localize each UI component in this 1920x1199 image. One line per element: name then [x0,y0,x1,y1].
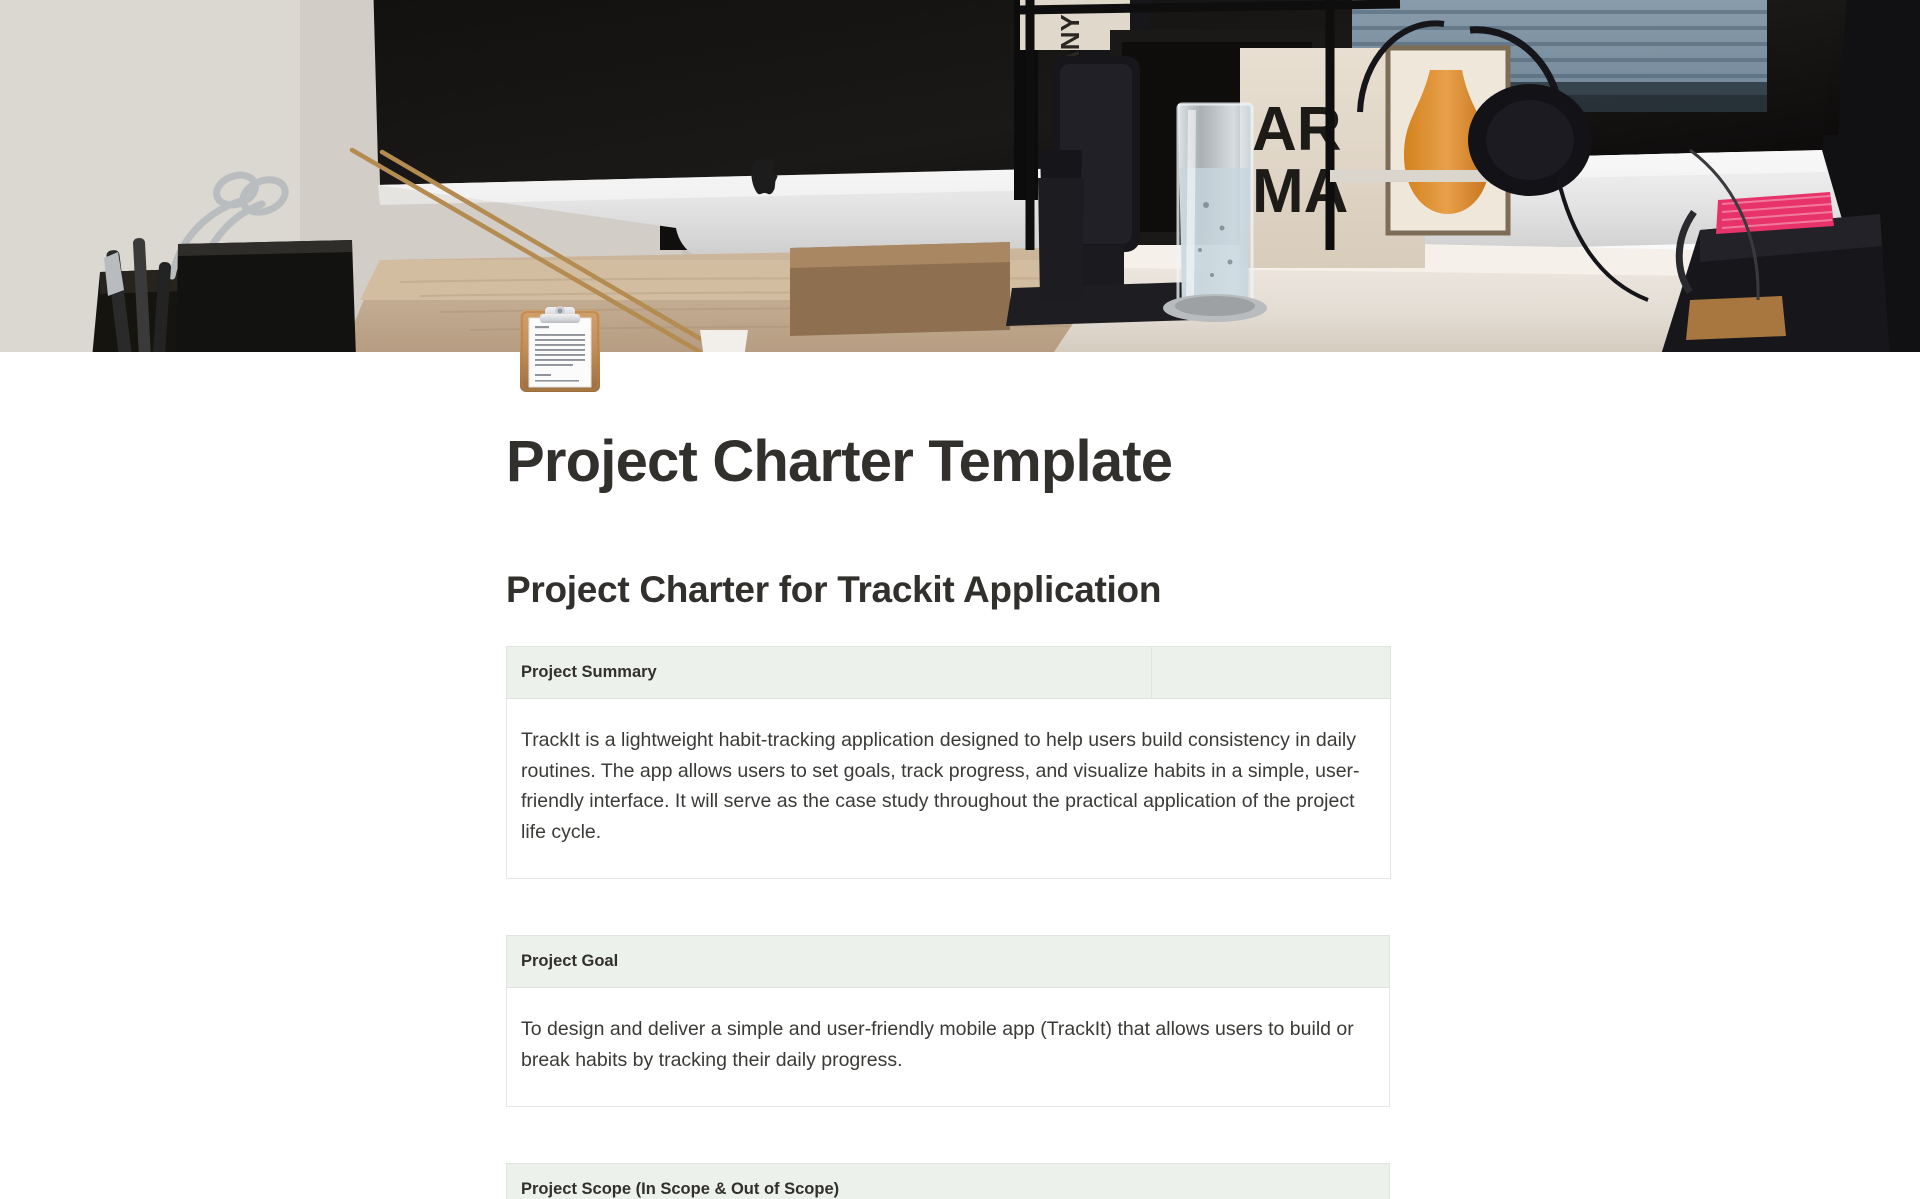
cover-image: ANY AR MA [0,0,1920,358]
table-project-summary: Project Summary TrackIt is a lightweight… [506,646,1390,879]
table-project-goal: Project Goal To design and deliver a sim… [506,935,1390,1107]
table-header-cell[interactable]: Project Scope (In Scope & Out of Scope) [507,1164,1390,1199]
table-header-spacer-cell[interactable] [1152,647,1391,699]
table-row: To design and deliver a simple and user-… [507,988,1390,1107]
table-header-row: Project Summary [507,647,1391,699]
document-page: ANY AR MA [0,0,1920,1199]
table-project-scope: Project Scope (In Scope & Out of Scope) … [506,1163,1390,1199]
table-cell-summary-text[interactable]: TrackIt is a lightweight habit-tracking … [507,699,1391,879]
clipboard-glyph [512,301,608,397]
table-header-cell[interactable]: Project Summary [507,647,1152,699]
table-cell-goal-text[interactable]: To design and deliver a simple and user-… [507,988,1390,1107]
cover-photo-illustration: ANY AR MA [0,0,1920,358]
table-row: TrackIt is a lightweight habit-tracking … [507,699,1391,879]
clipboard-icon[interactable] [511,300,609,398]
table-header-cell[interactable]: Project Goal [507,936,1390,988]
table-header-row: Project Goal [507,936,1390,988]
page-title: Project Charter Template [506,430,1426,495]
document-content: Project Charter Template Project Charter… [0,358,1920,1199]
section-heading: Project Charter for Trackit Application [506,567,1426,613]
table-header-row: Project Scope (In Scope & Out of Scope) [507,1164,1390,1199]
